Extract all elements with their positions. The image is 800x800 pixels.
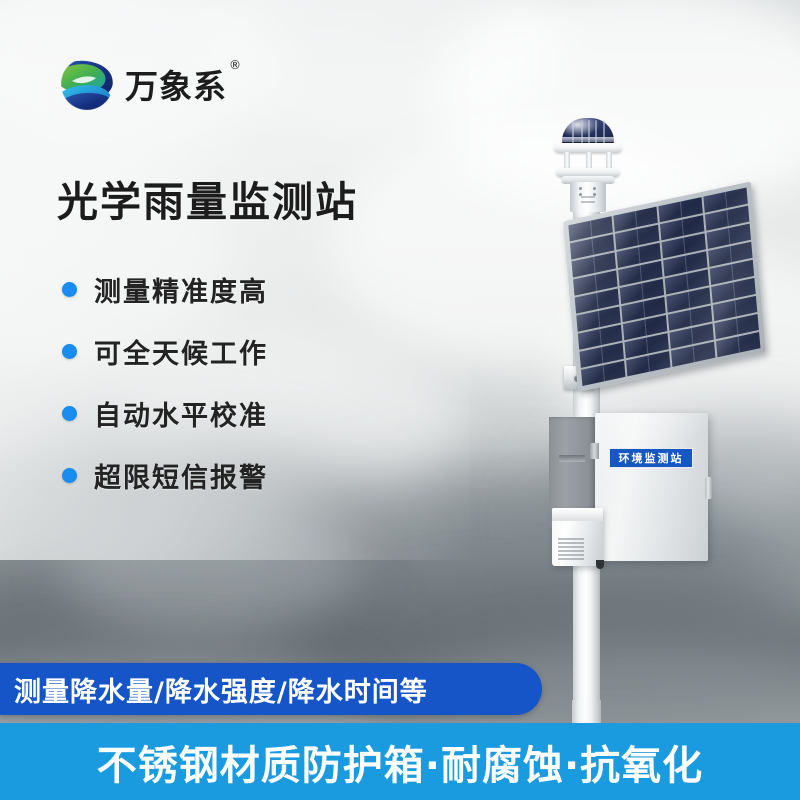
blue-dot-icon [62,344,77,359]
feature-item: 测量精准度高 [62,258,268,320]
cabinet-vent-slot [559,455,585,462]
blue-dot-icon [62,282,77,297]
feature-label: 超限短信报警 [94,456,268,495]
feature-list: 测量精准度高可全天候工作自动水平校准超限短信报警 [62,258,268,506]
brand-name-text: 万象系 [125,67,227,106]
material-features-banner: 不锈钢材质防护箱·耐腐蚀·抗氧化 [0,723,800,800]
material-features-text: 不锈钢材质防护箱·耐腐蚀·抗氧化 [97,733,703,791]
feature-label: 测量精准度高 [94,270,268,309]
cabinet-bottom-cap [596,560,604,569]
cabinet-door [595,413,708,561]
cabinet-hinge [590,443,599,459]
feature-item: 可全天候工作 [62,320,268,382]
cabinet-name-plate: 环境监测站 [609,448,693,468]
auxiliary-box-lid [552,508,603,521]
measurement-capabilities-text: 测量降水量/降水强度/降水时间等 [14,670,428,709]
brand-name: 万象系 ® [125,60,227,108]
blue-dot-icon [62,406,77,421]
blue-dot-icon [62,468,77,483]
optical-rain-sensor-icon [548,118,628,210]
globe-swirl-logo-icon [58,55,116,113]
cabinet-plate-label: 环境监测站 [619,450,684,466]
dome-base-band [562,137,614,142]
product-promo-image: 环境监测站 [0,0,800,800]
brand-logo: 万象系 ® [58,55,227,113]
feature-label: 可全天候工作 [94,332,268,371]
feature-item: 自动水平校准 [62,382,268,444]
page-title: 光学雨量监测站 [57,168,358,228]
registered-mark: ® [229,58,242,72]
measurement-capabilities-banner: 测量降水量/降水强度/降水时间等 [0,663,542,715]
cabinet-latch [705,477,712,499]
feature-item: 超限短信报警 [62,444,268,506]
feature-label: 自动水平校准 [94,394,268,433]
solar-cell-grid [568,188,760,386]
